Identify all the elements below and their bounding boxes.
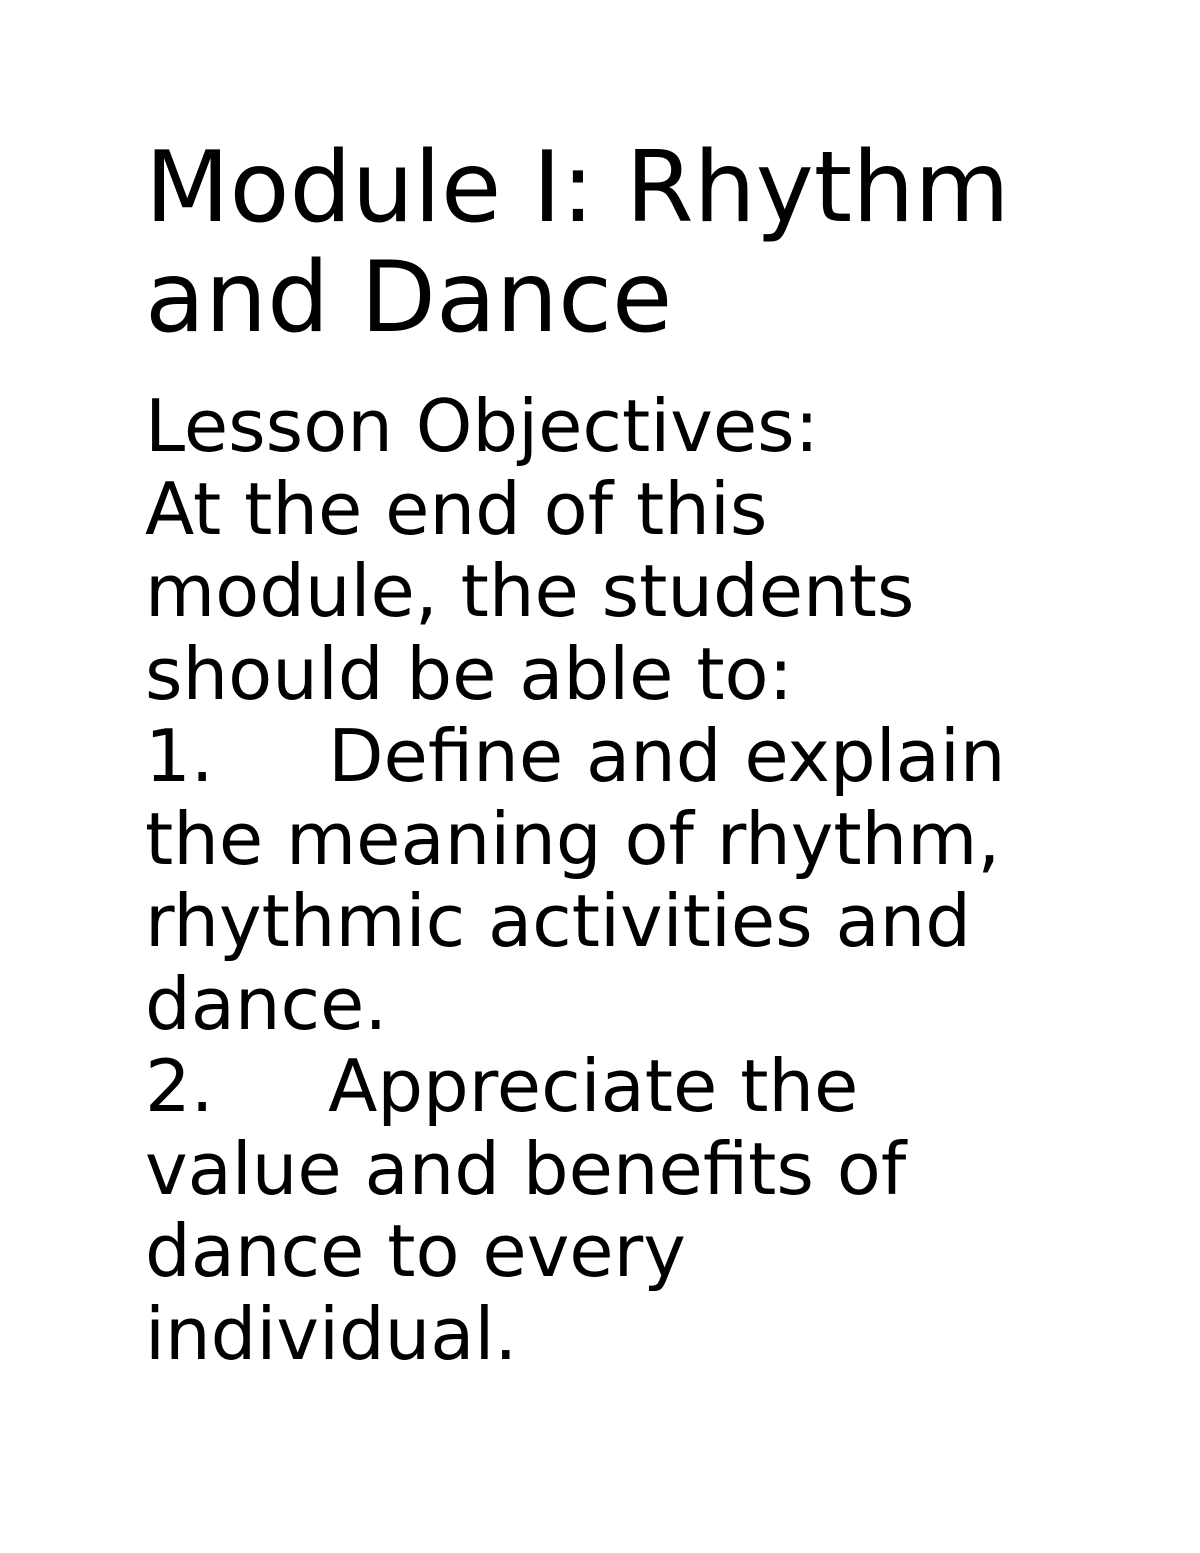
lesson-objectives-heading: Lesson Objectives: — [145, 385, 1025, 468]
document-page: Module I: Rhythm and Dance Lesson Object… — [0, 0, 1200, 1553]
objective-item-1: 1. Define and explain the meaning of rhy… — [145, 715, 1025, 1045]
lesson-objectives-block: Lesson Objectives: At the end of this mo… — [145, 353, 1025, 1375]
objective-item-2: 2. Appreciate the value and benefits of … — [145, 1045, 1025, 1375]
document-content: Module I: Rhythm and Dance Lesson Object… — [145, 133, 1025, 1375]
page-title: Module I: Rhythm and Dance — [145, 133, 1025, 353]
lesson-objectives-intro: At the end of this module, the students … — [145, 468, 1025, 716]
title-body-spacer — [145, 353, 1025, 385]
